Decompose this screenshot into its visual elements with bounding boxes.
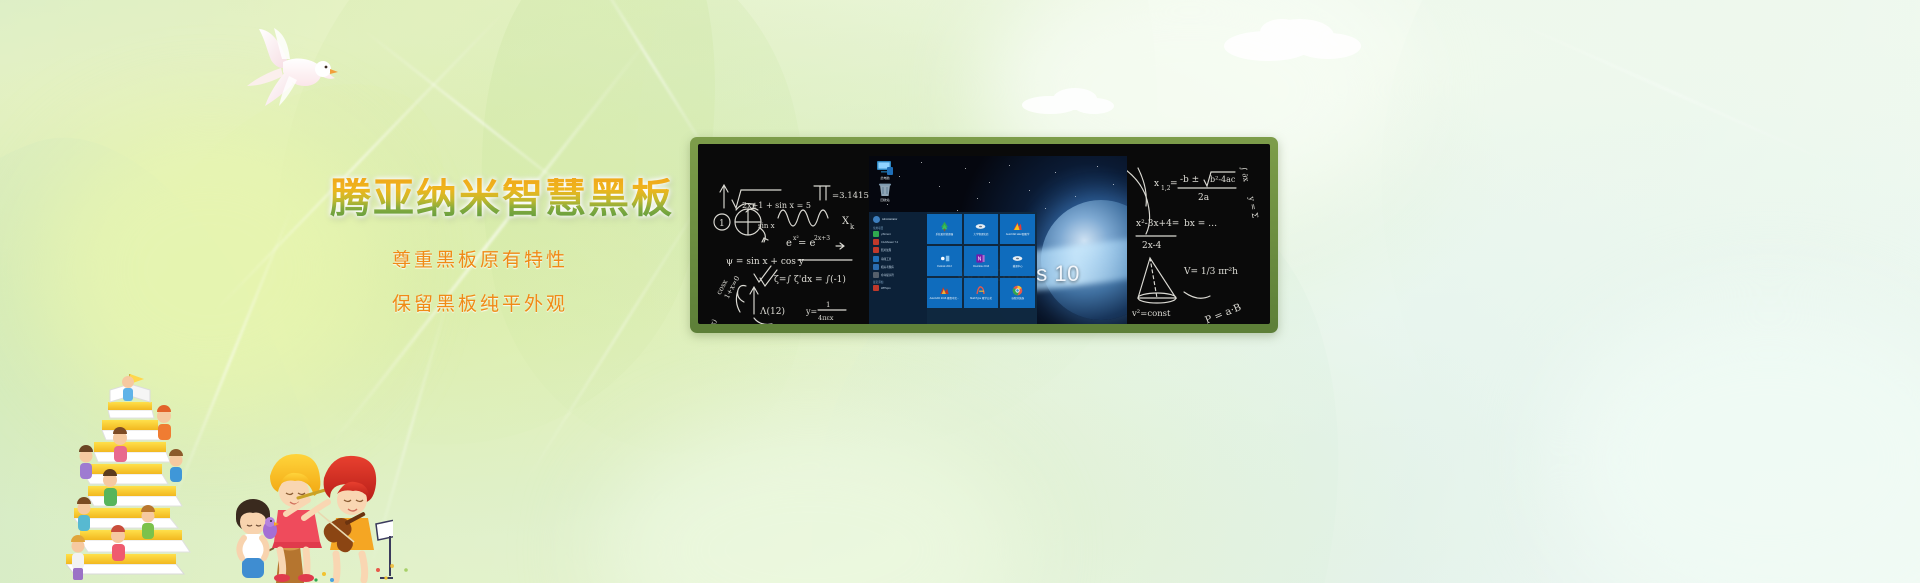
children-music-illustration	[228, 438, 393, 583]
svg-text:2a: 2a	[1198, 193, 1210, 203]
chalk-equations-left: 2x+1 + sin x = 5 =3.1415x 1 sin x	[702, 152, 874, 324]
start-tile-label: Outlook 2013	[936, 266, 953, 269]
start-tile[interactable]: 播课中心	[1000, 246, 1035, 276]
start-tile-label: 系统更新管理器	[935, 234, 955, 237]
nano-smart-blackboard[interactable]: 2x+1 + sin x = 5 =3.1415x 1 sin x	[690, 137, 1278, 333]
svg-text:v²=const: v²=const	[1131, 309, 1171, 319]
kid-girl-violin	[318, 456, 393, 580]
start-menu-item-label: 命令提示符	[881, 273, 894, 277]
windows-desktop[interactable]: Windows 10 此电脑 回收站 Administrator	[869, 156, 1127, 324]
user-name: Administrator	[882, 218, 897, 221]
svg-text:sin x: sin x	[758, 222, 775, 230]
start-menu-user[interactable]: Administrator	[873, 216, 925, 223]
svg-text:2x+3: 2x+3	[814, 235, 830, 242]
svg-text:V= 1/3 πr²h: V= 1/3 πr²h	[1183, 267, 1238, 277]
start-tile[interactable]: AutoCAD 2016 教程中文...	[927, 278, 962, 308]
svg-text:P = a·B: P = a·B	[1204, 302, 1243, 324]
start-menu-item[interactable]: 照片处理	[873, 247, 925, 253]
svg-text:4πεx: 4πεx	[818, 314, 834, 322]
dove-icon	[243, 28, 343, 114]
desktop-icon-label: 此电脑	[872, 177, 898, 180]
banner-text-block: 腾亚纳米智慧黑板 腾亚纳米智慧黑板 尊重黑板原有特性 保留黑板纯平外观	[330, 178, 630, 325]
start-menu-item[interactable]: 相关考题库	[873, 264, 925, 270]
svg-text:N: N	[978, 257, 982, 263]
app-icon	[873, 256, 879, 262]
start-tile[interactable]: 大学物理实验	[964, 214, 999, 244]
start-menu-item-label: 照片处理	[881, 248, 891, 252]
start-tile-label: MathType 教学公式	[969, 298, 993, 301]
svg-text:∫ ∂x: ∫ ∂x	[1239, 166, 1251, 183]
start-menu-item[interactable]: CAJViewer 7.2	[873, 239, 925, 245]
mathtype-icon	[975, 285, 986, 296]
computer-icon[interactable]: 此电脑	[872, 160, 898, 180]
svg-text:2x-4: 2x-4	[1142, 241, 1162, 251]
start-tile-label: 播课中心	[1012, 266, 1024, 269]
start-menu-item[interactable]: 命令提示符	[873, 272, 925, 278]
svg-text:f(x): f(x)	[706, 317, 719, 324]
tree-icon	[939, 221, 950, 232]
svg-text:x²-3x+4=: x²-3x+4=	[1136, 219, 1179, 229]
start-tile-label: OneNote 2013	[972, 266, 990, 269]
start-menu-item-label: μTorrent	[881, 233, 891, 236]
svg-text:y = Σ: y = Σ	[1247, 195, 1260, 220]
start-tile[interactable]: N OneNote 2013	[964, 246, 999, 276]
recycle-bin-icon[interactable]: 回收站	[872, 182, 898, 202]
svg-text:ζ=∫ ζ'dx = ∫(-1): ζ=∫ ζ'dx = ∫(-1)	[774, 274, 846, 285]
start-menu-left-panel[interactable]: Administrator 常用项目 μTorrent CAJViewer 7.…	[869, 212, 927, 324]
start-tile-label: AutoCAD 2016 教程中文...	[929, 298, 960, 301]
start-tile-label: 大学物理实验	[972, 234, 989, 237]
start-tile-label: 谷歌浏览器	[1010, 298, 1025, 301]
banner-stage: 腾亚纳米智慧黑板 腾亚纳米智慧黑板 尊重黑板原有特性 保留黑板纯平外观	[0, 0, 1920, 583]
svg-text:1: 1	[719, 219, 725, 229]
book-tower-illustration	[58, 368, 248, 583]
blackboard-screen[interactable]: 2x+1 + sin x = 5 =3.1415x 1 sin x	[698, 144, 1270, 324]
start-menu-item[interactable]: 审阅工具	[873, 256, 925, 262]
page-title: 腾亚纳米智慧黑板 腾亚纳米智慧黑板	[330, 178, 674, 219]
subtitle-line-1: 尊重黑板原有特性	[330, 241, 630, 281]
disc-icon	[975, 221, 986, 232]
start-menu-section-added: 最近添加	[873, 280, 925, 284]
confetti-dots	[386, 556, 426, 576]
kid-boy-sitting	[236, 499, 270, 578]
start-menu-item-label: 审阅工具	[881, 257, 891, 261]
svg-text:y=: y=	[805, 307, 817, 316]
start-tile[interactable]: MathType 教学公式	[964, 278, 999, 308]
svg-text:= e: = e	[798, 238, 816, 249]
start-tile[interactable]: Outlook 2013	[927, 246, 962, 276]
svg-text:Λ(12): Λ(12)	[759, 306, 785, 317]
outlook-icon	[939, 253, 950, 264]
svg-text:-b ±: -b ±	[1180, 175, 1199, 185]
disc-icon	[1012, 253, 1023, 264]
svg-text:e: e	[786, 238, 792, 249]
cad-icon	[939, 285, 950, 296]
start-menu-tiles[interactable]: 系统更新管理器 大学物理实验 AutoCAD alter图教学 Out	[927, 214, 1035, 324]
svg-text:bx = …: bx = …	[1184, 219, 1217, 229]
desktop-icon-label: 回收站	[872, 199, 898, 202]
start-tile[interactable]: 谷歌浏览器	[1000, 278, 1035, 308]
subtitle-line-2: 保留黑板纯平外观	[330, 285, 630, 325]
start-menu-item-label: 相关考题库	[881, 265, 894, 269]
svg-text:x: x	[1154, 179, 1159, 189]
svg-text:X: X	[842, 216, 850, 227]
cloud-small-right	[1020, 82, 1116, 116]
start-tile[interactable]: 系统更新管理器	[927, 214, 962, 244]
svg-text:ψ = sin x + cos y: ψ = sin x + cos y	[726, 257, 805, 267]
chrome-icon	[1012, 285, 1023, 296]
cloud-top-right	[1222, 6, 1372, 68]
start-menu-item-label: WPSpro	[881, 287, 891, 290]
svg-text:b²-4ac: b²-4ac	[1210, 175, 1236, 184]
svg-text:=: =	[1170, 179, 1178, 189]
start-menu[interactable]: Administrator 常用项目 μTorrent CAJViewer 7.…	[869, 212, 1037, 324]
svg-text:1: 1	[826, 301, 830, 309]
onenote-icon: N	[975, 253, 986, 264]
start-menu-item[interactable]: WPSpro	[873, 285, 925, 291]
start-tile-label: AutoCAD alter图教学	[1005, 234, 1030, 237]
autocad-icon	[1012, 221, 1023, 232]
headline-text: 腾亚纳米智慧黑板	[330, 178, 674, 219]
app-icon	[873, 272, 879, 278]
svg-text:k: k	[850, 223, 855, 231]
app-icon	[873, 285, 879, 291]
chalk-equations-right: x 1,2 = -b ± b²-4ac 2a ∫ ∂x y = Σ	[1120, 152, 1268, 324]
app-icon	[873, 247, 879, 253]
app-icon	[873, 264, 879, 270]
start-tile[interactable]: AutoCAD alter图教学	[1000, 214, 1035, 244]
start-menu-item[interactable]: μTorrent	[873, 231, 925, 237]
start-menu-section-recent: 常用项目	[873, 226, 925, 230]
start-menu-item-label: CAJViewer 7.2	[881, 241, 898, 244]
avatar	[873, 216, 880, 223]
app-icon	[873, 231, 879, 237]
svg-text:=3.1415x: =3.1415x	[832, 191, 874, 201]
app-icon	[873, 239, 879, 245]
